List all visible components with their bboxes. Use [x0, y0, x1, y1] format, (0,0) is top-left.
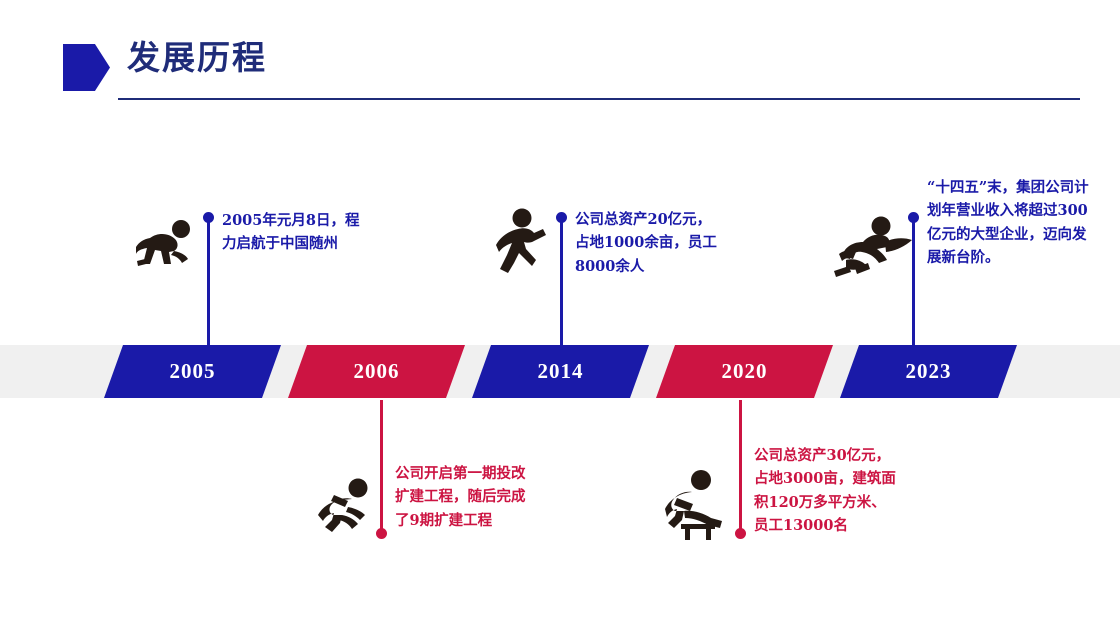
milestone-text-2005: 2005年元月8日，程 力启航于中国随州 [222, 209, 392, 256]
hurdler-icon [665, 468, 731, 540]
milestone-stem-2014 [560, 220, 563, 346]
running-person-icon-2006 [318, 477, 376, 533]
timeline-segment-2014[interactable]: 2014 [472, 345, 649, 398]
milestone-stem-2005 [207, 220, 210, 346]
slide-header: 发展历程 [0, 0, 1120, 120]
milestone-text-2014-line3: 8000余人 [575, 255, 755, 278]
milestone-stem-2020 [739, 400, 742, 532]
crouching-sprinter-icon [136, 218, 198, 270]
timeline-year-2005: 2005 [170, 359, 216, 384]
milestone-stem-2023 [912, 220, 915, 346]
timeline-year-2023: 2023 [906, 359, 952, 384]
title-underline [118, 98, 1080, 100]
milestone-text-2023: “十四五”末，集团公司计 划年营业收入将超过300 亿元的大型企业，迈向发 展新… [927, 176, 1112, 270]
timeline-year-2014: 2014 [538, 359, 584, 384]
milestone-text-2020-line2: 占地3000亩，建筑面 [754, 467, 934, 490]
timeline-segment-2020[interactable]: 2020 [656, 345, 833, 398]
timeline-segment-2005[interactable]: 2005 [104, 345, 281, 398]
milestone-stem-2006 [380, 400, 383, 532]
milestone-text-2020-line4: 员工13000名 [754, 514, 934, 537]
rocket-rider-icon [833, 216, 913, 282]
milestone-text-2014-line2: 占地1000余亩，员工 [575, 231, 755, 254]
running-person-icon-2014 [496, 208, 552, 274]
milestone-text-2023-line4: 展新台阶。 [927, 246, 1112, 269]
timeline-year-2020: 2020 [722, 359, 768, 384]
milestone-text-2005-line1: 2005年元月8日，程 [222, 209, 392, 232]
milestone-text-2006-line1: 公司开启第一期投改 [395, 462, 575, 485]
milestone-text-2005-line2: 力启航于中国随州 [222, 232, 392, 255]
milestone-text-2014: 公司总资产20亿元， 占地1000余亩，员工 8000余人 [575, 208, 755, 278]
timeline-segment-2023[interactable]: 2023 [840, 345, 1017, 398]
milestone-text-2020: 公司总资产30亿元， 占地3000亩，建筑面 积120万多平方米、 员工1300… [754, 444, 934, 538]
milestone-text-2023-line3: 亿元的大型企业，迈向发 [927, 223, 1112, 246]
milestone-text-2023-line1: “十四五”末，集团公司计 [927, 176, 1112, 199]
slide-root: 发展历程 2005 2006 2014 2020 2023 2005年元月8日，… [0, 0, 1120, 630]
timeline-year-2006: 2006 [354, 359, 400, 384]
milestone-text-2014-line1: 公司总资产20亿元， [575, 208, 755, 231]
milestone-text-2006: 公司开启第一期投改 扩建工程，随后完成 了9期扩建工程 [395, 462, 575, 532]
page-title: 发展历程 [127, 41, 267, 74]
milestone-text-2020-line1: 公司总资产30亿元， [754, 444, 934, 467]
pentagon-arrow-badge-icon [63, 44, 110, 91]
milestone-text-2006-line3: 了9期扩建工程 [395, 509, 575, 532]
milestone-text-2006-line2: 扩建工程，随后完成 [395, 485, 575, 508]
milestone-text-2023-line2: 划年营业收入将超过300 [927, 199, 1112, 222]
milestone-text-2020-line3: 积120万多平方米、 [754, 491, 934, 514]
timeline-segment-2006[interactable]: 2006 [288, 345, 465, 398]
